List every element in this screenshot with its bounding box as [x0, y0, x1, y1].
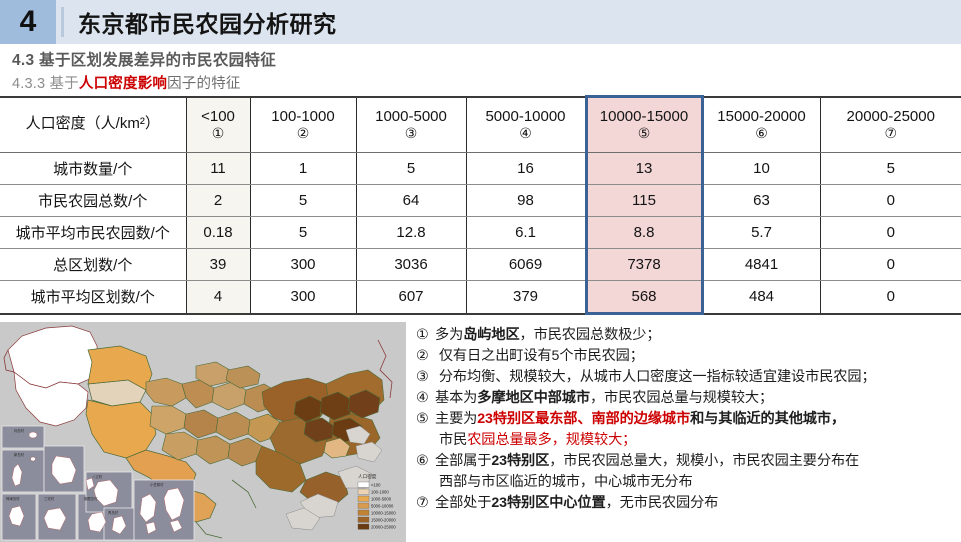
lower-section: 利岛村 新岛村 神津岛村 三宅村 御藏岛村 八丈町 青岛村 小笠原村 人口密度 … [0, 322, 961, 542]
annotation-note: ⑤主要为23特别区最东部、南部的边缘城市和与其临近的其他城市， [412, 409, 961, 430]
column-header-2: 100-1000 ② [250, 97, 356, 153]
inset-label-6: 八丈町 [92, 474, 103, 479]
table-header-row: 人口密度（人/km²） <100 ① 100-1000 ② 1000-5000 … [0, 97, 961, 153]
row-label: 城市数量/个 [0, 153, 186, 185]
column-index-5: ⑤ [588, 126, 701, 141]
cell: 39 [186, 249, 250, 281]
table-body: 城市数量/个 11 1 5 16 13 10 5 市民农园总数/个 2 5 64… [0, 153, 961, 314]
island-3 [31, 457, 36, 461]
cell: 98 [466, 185, 586, 217]
note-marker: ③ [416, 367, 435, 388]
note-text: 岛屿地区 [463, 327, 519, 343]
column-range-5: 10000-15000 [588, 109, 701, 126]
table-row: 城市数量/个 11 1 5 16 13 10 5 [0, 153, 961, 185]
legend-swatch-2 [358, 489, 369, 494]
table-row: 市民农园总数/个 2 5 64 98 115 63 0 [0, 185, 961, 217]
column-range-2: 100-1000 [251, 109, 356, 126]
column-range-4: 5000-10000 [467, 109, 585, 126]
legend-swatch-1 [358, 482, 369, 487]
subsection-highlight: 人口密度影响 [79, 76, 167, 92]
cell: 10 [702, 153, 820, 185]
column-header-1: <100 ① [186, 97, 250, 153]
cell-highlighted: 8.8 [586, 217, 702, 249]
cell: 0 [820, 281, 961, 314]
column-range-3: 1000-5000 [357, 109, 466, 126]
cell: 5 [820, 153, 961, 185]
cell: 607 [356, 281, 466, 314]
note-text: 和与其临近的其他城市， [690, 411, 845, 427]
legend-label-3: 1000-5000 [371, 497, 392, 502]
column-index-4: ④ [467, 126, 585, 141]
cell-highlighted: 568 [586, 281, 702, 314]
row-label: 总区划数/个 [0, 249, 186, 281]
legend-swatch-4 [358, 503, 369, 508]
annotation-note: ⑦全部处于23特别区中心位置，无市民农园分布 [412, 493, 961, 514]
cell: 484 [702, 281, 820, 314]
tokyo-choropleth-map: 利岛村 新岛村 神津岛村 三宅村 御藏岛村 八丈町 青岛村 小笠原村 人口密度 … [0, 322, 406, 542]
cell: 300 [250, 249, 356, 281]
cell: 11 [186, 153, 250, 185]
cell-highlighted: 13 [586, 153, 702, 185]
legend-title: 人口密度 [358, 473, 377, 480]
row-label: 城市平均区划数/个 [0, 281, 186, 314]
cell: 5 [250, 217, 356, 249]
note-text: 基本为 [435, 390, 477, 406]
note-text: ，市民农园总量大，规模小，市民农园主要分布在 [549, 453, 859, 469]
annotation-note: ③ 分布均衡、规模较大，从城市人口密度这一指标较适宜建设市民农园； [412, 367, 961, 388]
column-index-2: ② [251, 126, 356, 141]
table-row: 城市平均市民农园数/个 0.18 5 12.8 6.1 8.8 5.7 0 [0, 217, 961, 249]
cell: 64 [356, 185, 466, 217]
cell: 3036 [356, 249, 466, 281]
note-text: 多摩地区中部城市 [477, 390, 590, 406]
slide-header: 4 东京都市民农园分析研究 [0, 0, 961, 44]
header-vertical-rule [61, 7, 64, 37]
inset-label-3: 神津岛村 [6, 496, 20, 501]
cell: 0 [820, 185, 961, 217]
row-label: 城市平均市民农园数/个 [0, 217, 186, 249]
cell: 5.7 [702, 217, 820, 249]
cell: 5 [356, 153, 466, 185]
legend-label-7: 20000-25000 [371, 525, 396, 530]
annotation-note: ①多为岛屿地区，市民农园总数极少； [412, 325, 961, 346]
legend-label-5: 10000-15000 [371, 511, 396, 516]
inset-label-2: 新岛村 [14, 452, 25, 457]
cell: 379 [466, 281, 586, 314]
slide-root: 4 东京都市民农园分析研究 4.3 基于区划发展差异的市民农园特征 4.3.3 … [0, 0, 961, 542]
row-label: 市民农园总数/个 [0, 185, 186, 217]
inset-label-8: 小笠原村 [150, 482, 164, 487]
cell: 0 [820, 217, 961, 249]
cell: 4841 [702, 249, 820, 281]
cell-highlighted: 115 [586, 185, 702, 217]
cell: 4 [186, 281, 250, 314]
legend-label-1: <100 [371, 483, 381, 488]
table-head: 人口密度（人/km²） <100 ① 100-1000 ② 1000-5000 … [0, 97, 961, 153]
column-range-7: 20000-25000 [821, 109, 961, 126]
annotation-note: 市民农园总量最多，规模较大； [412, 430, 961, 451]
subsection-prefix: 4.3.3 基于 [12, 76, 79, 92]
note-text: 多为 [435, 327, 463, 343]
note-marker: ② [416, 346, 435, 367]
cell: 1 [250, 153, 356, 185]
cell: 63 [702, 185, 820, 217]
cell: 5 [250, 185, 356, 217]
page-title: 东京都市民农园分析研究 [78, 5, 337, 39]
note-marker: ⑤ [416, 409, 435, 430]
inset-label-4: 三宅村 [44, 496, 55, 501]
note-marker: ⑦ [416, 493, 435, 514]
note-text: 分布均衡、规模较大，从城市人口密度这一指标较适宜建设市民农园； [435, 369, 876, 385]
data-table-container: 人口密度（人/km²） <100 ① 100-1000 ② 1000-5000 … [0, 95, 961, 320]
table-row: 城市平均区划数/个 4 300 607 379 568 484 0 [0, 281, 961, 314]
cell: 16 [466, 153, 586, 185]
table-corner-header: 人口密度（人/km²） [0, 97, 186, 153]
annotation-note: 西部与市区临近的城市，中心城市无分布 [412, 472, 961, 493]
cell: 0 [820, 249, 961, 281]
legend-label-4: 5000-10000 [371, 504, 394, 509]
cell: 0.18 [186, 217, 250, 249]
section-subtitle: 4.3 基于区划发展差异的市民农园特征 [12, 48, 276, 70]
inset-label-7: 青岛村 [108, 510, 119, 515]
column-header-5-highlighted: 10000-15000 ⑤ [586, 97, 702, 153]
note-text: 全部处于 [435, 495, 491, 511]
legend-label-6: 15000-20000 [371, 518, 396, 523]
cell: 2 [186, 185, 250, 217]
slide-number-badge: 4 [0, 0, 56, 44]
note-text: 23特别区中心位置 [491, 495, 605, 511]
map-svg: 利岛村 新岛村 神津岛村 三宅村 御藏岛村 八丈町 青岛村 小笠原村 人口密度 … [0, 322, 406, 542]
note-marker: ④ [416, 388, 435, 409]
column-range-1: <100 [187, 109, 250, 126]
legend-swatch-3 [358, 496, 369, 501]
column-header-3: 1000-5000 ③ [356, 97, 466, 153]
note-text: 市民 [439, 432, 467, 448]
annotation-note: ② 仅有日之出町设有5个市民农园； [412, 346, 961, 367]
column-header-4: 5000-10000 ④ [466, 97, 586, 153]
annotation-note: ⑥全部属于23特别区，市民农园总量大，规模小，市民农园主要分布在 [412, 451, 961, 472]
note-text: 23特别区最东部、南部的边缘城市 [477, 411, 690, 427]
cell: 6.1 [466, 217, 586, 249]
cell: 6069 [466, 249, 586, 281]
legend-label-2: 100-1000 [371, 490, 389, 495]
column-index-7: ⑦ [821, 126, 961, 141]
column-header-6: 15000-20000 ⑥ [702, 97, 820, 153]
note-text: 仅有日之出町设有5个市民农园； [435, 348, 644, 364]
note-marker: ① [416, 325, 435, 346]
note-text: 农园总量最多，规模较大； [467, 432, 636, 448]
note-text: 全部属于 [435, 453, 491, 469]
table-row: 总区划数/个 39 300 3036 6069 7378 4841 0 [0, 249, 961, 281]
note-text: ，市民农园总数极少； [520, 327, 661, 343]
cell: 300 [250, 281, 356, 314]
note-text: ，无市民农园分布 [606, 495, 719, 511]
note-text: 西部与市区临近的城市，中心城市无分布 [439, 474, 693, 490]
note-text: 23特别区 [491, 453, 549, 469]
population-density-table: 人口密度（人/km²） <100 ① 100-1000 ② 1000-5000 … [0, 95, 961, 315]
column-index-1: ① [187, 126, 250, 141]
note-text: ，市民农园总量与规模较大； [590, 390, 773, 406]
inset-label-1: 利岛村 [14, 428, 25, 433]
legend-swatch-5 [358, 510, 369, 515]
column-header-7: 20000-25000 ⑦ [820, 97, 961, 153]
annotation-note: ④基本为多摩地区中部城市，市民农园总量与规模较大； [412, 388, 961, 409]
annotation-notes-list: ①多为岛屿地区，市民农园总数极少；② 仅有日之出町设有5个市民农园；③ 分布均衡… [412, 322, 961, 542]
note-marker: ⑥ [416, 451, 435, 472]
column-range-6: 15000-20000 [704, 109, 820, 126]
legend-swatch-7 [358, 524, 369, 529]
legend-swatch-6 [358, 517, 369, 522]
cell: 12.8 [356, 217, 466, 249]
cell-highlighted: 7378 [586, 249, 702, 281]
note-text: 主要为 [435, 411, 477, 427]
inset-label-5: 御藏岛村 [84, 496, 98, 501]
column-index-6: ⑥ [704, 126, 820, 141]
subsection-suffix: 因子的特征 [167, 76, 241, 92]
island-1 [29, 432, 37, 438]
subsection-subtitle: 4.3.3 基于人口密度影响因子的特征 [12, 72, 241, 93]
column-index-3: ③ [357, 126, 466, 141]
